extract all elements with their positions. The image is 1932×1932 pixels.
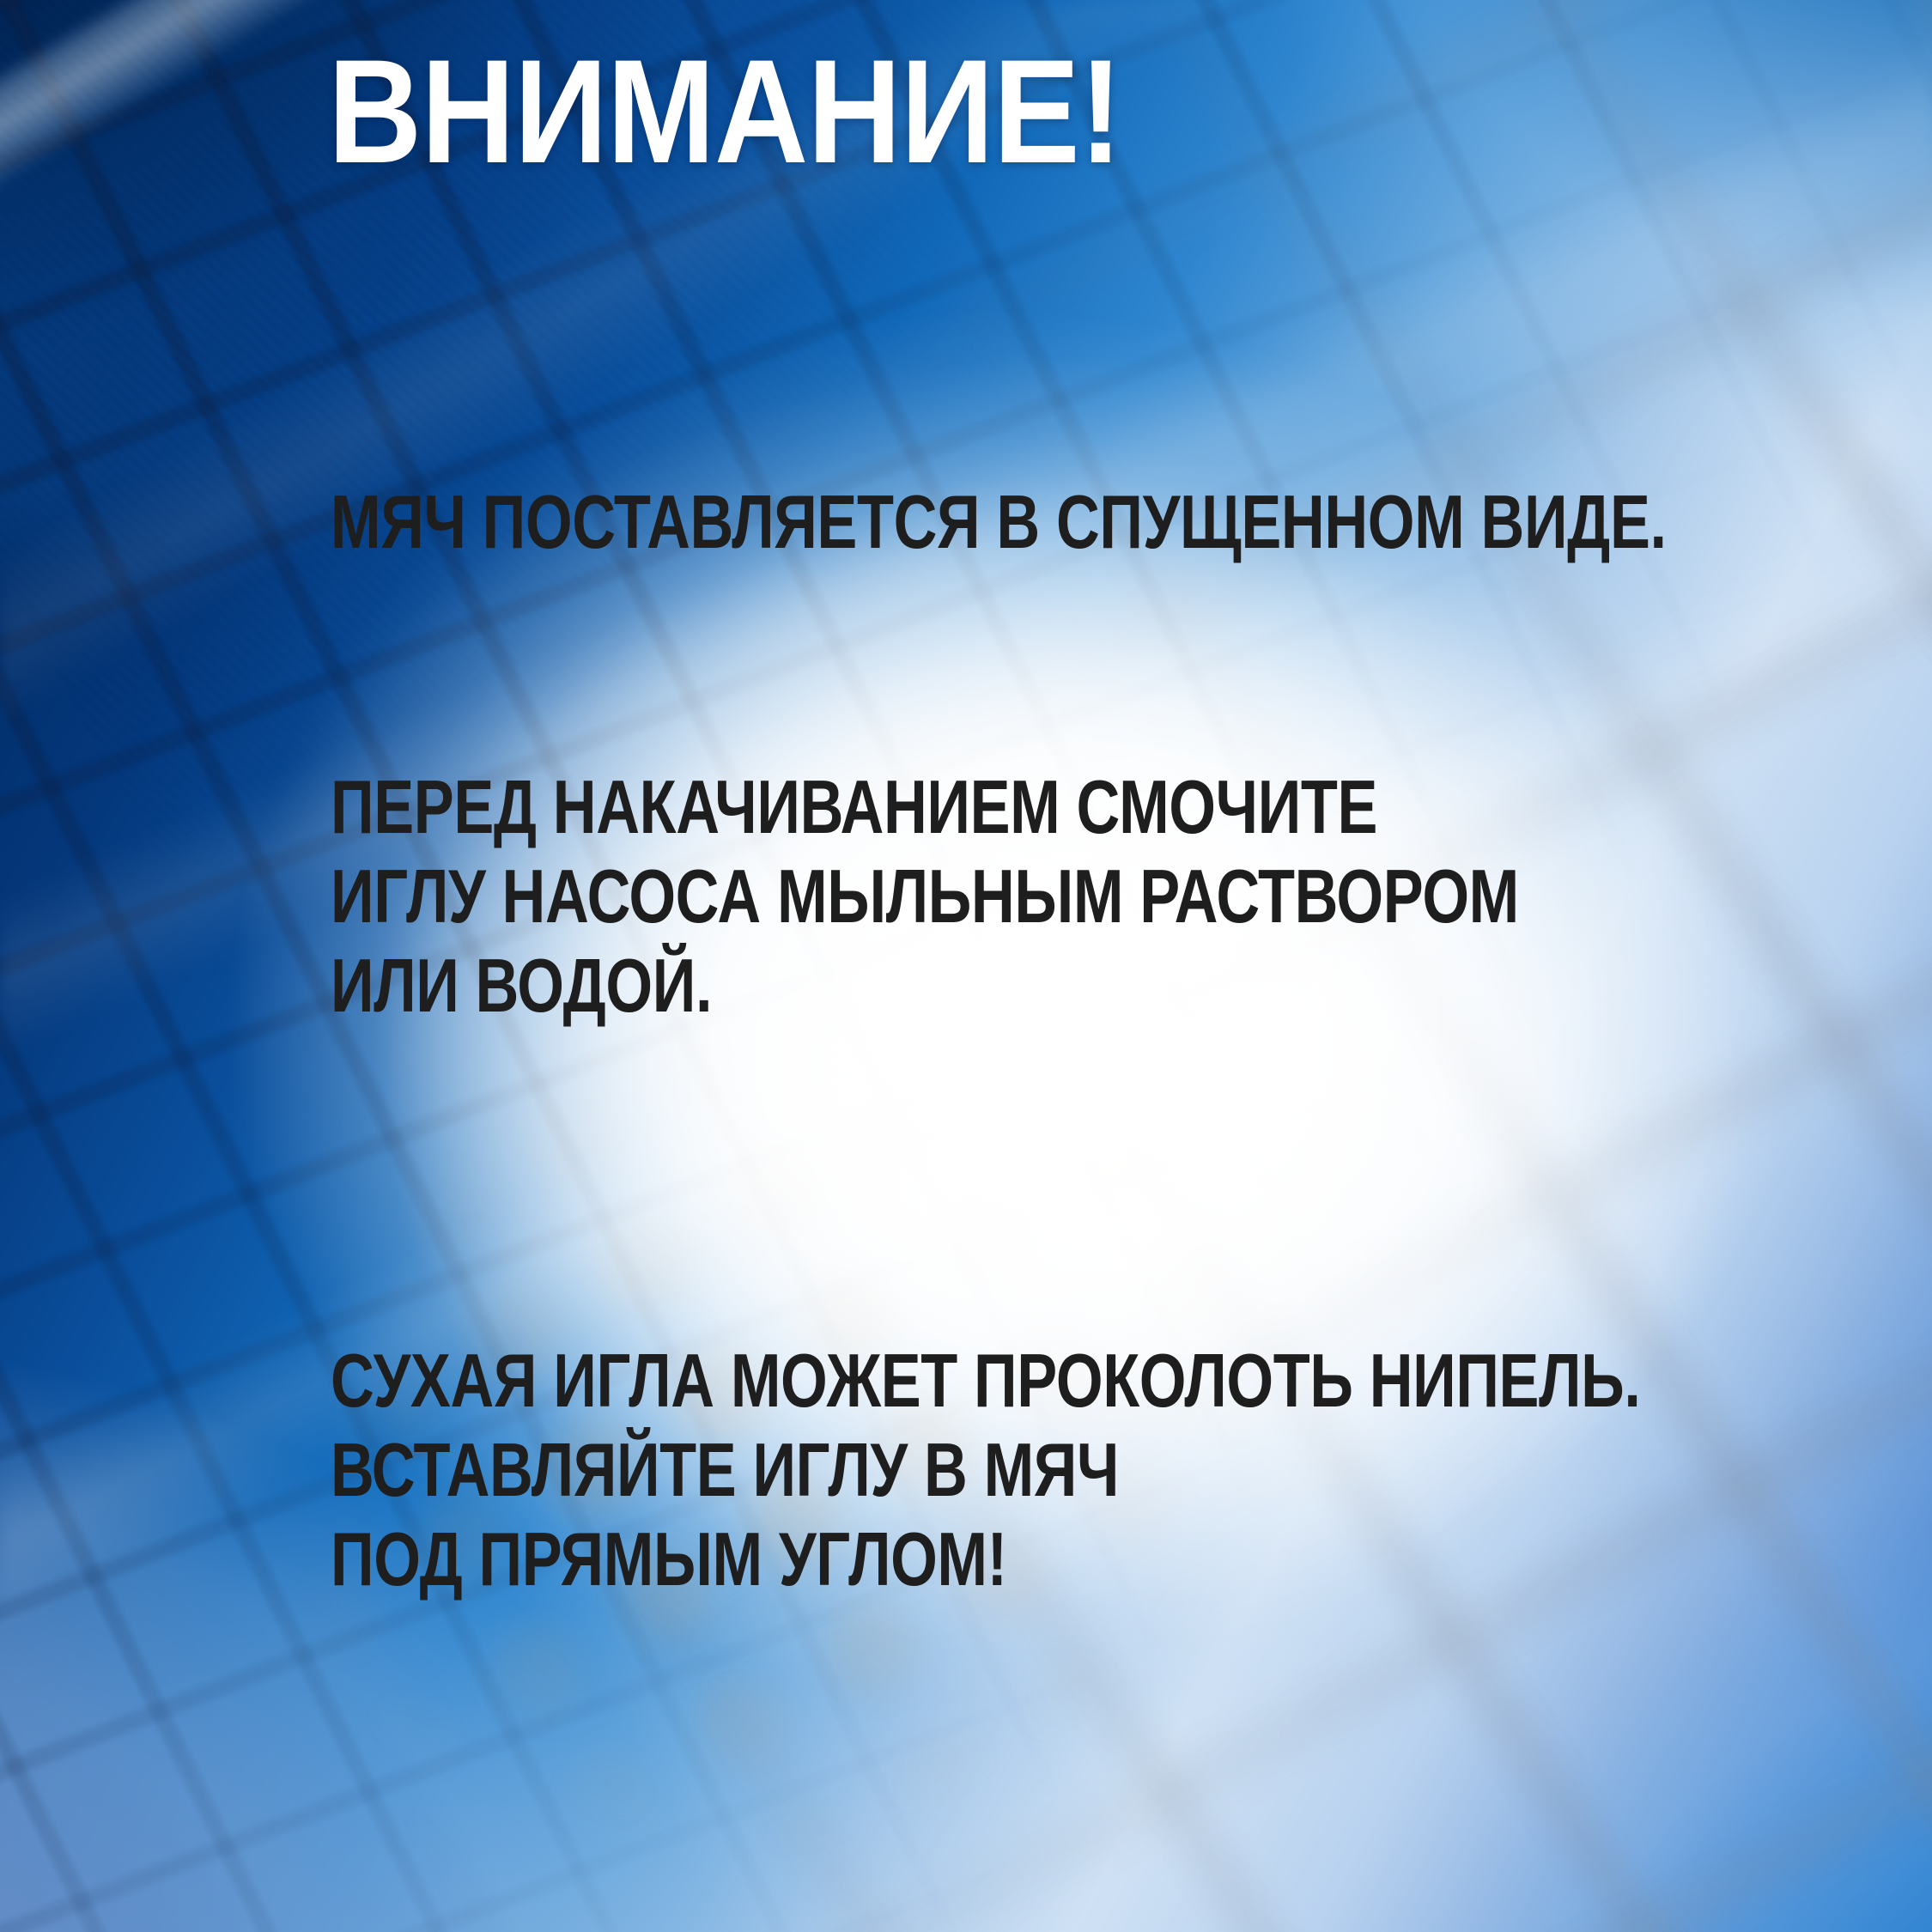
paragraph-lines: СУХАЯ ИГЛА МОЖЕТ ПРОКОЛОТЬ НИПЕЛЬ. ВСТАВ… [331, 1336, 1842, 1604]
instruction-paragraph-2: ПЕРЕД НАКАЧИВАНИЕМ СМОЧИТЕ ИГЛУ НАСОСА М… [331, 762, 1842, 1030]
instruction-line: ИЛИ ВОДОЙ. [331, 941, 1540, 1030]
instruction-paragraph-1: МЯЧ ПОСТАВЛЯЕТСЯ В СПУЩЕННОМ ВИДЕ. [331, 477, 1842, 567]
paragraph-lines: ПЕРЕД НАКАЧИВАНИЕМ СМОЧИТЕ ИГЛУ НАСОСА М… [331, 762, 1842, 1030]
poster-content: ВНИМАНИЕ! МЯЧ ПОСТАВЛЯЕТСЯ В СПУЩЕННОМ В… [0, 0, 1932, 1932]
warning-poster: ВНИМАНИЕ! МЯЧ ПОСТАВЛЯЕТСЯ В СПУЩЕННОМ В… [0, 0, 1932, 1932]
instruction-paragraph-3: СУХАЯ ИГЛА МОЖЕТ ПРОКОЛОТЬ НИПЕЛЬ. ВСТАВ… [331, 1336, 1842, 1604]
instruction-line: МЯЧ ПОСТАВЛЯЕТСЯ В СПУЩЕННОМ ВИДЕ. [331, 477, 1540, 567]
instruction-line: СУХАЯ ИГЛА МОЖЕТ ПРОКОЛОТЬ НИПЕЛЬ. [331, 1336, 1540, 1425]
page-title: ВНИМАНИЕ! [328, 38, 1121, 185]
instruction-line: ПОД ПРЯМЫМ УГЛОМ! [331, 1515, 1540, 1604]
paragraph-lines: МЯЧ ПОСТАВЛЯЕТСЯ В СПУЩЕННОМ ВИДЕ. [331, 477, 1842, 567]
instruction-line: ИГЛУ НАСОСА МЫЛЬНЫМ РАСТВОРОМ [331, 852, 1540, 941]
instruction-line: ПЕРЕД НАКАЧИВАНИЕМ СМОЧИТЕ [331, 762, 1540, 852]
instruction-line: ВСТАВЛЯЙТЕ ИГЛУ В МЯЧ [331, 1425, 1540, 1515]
